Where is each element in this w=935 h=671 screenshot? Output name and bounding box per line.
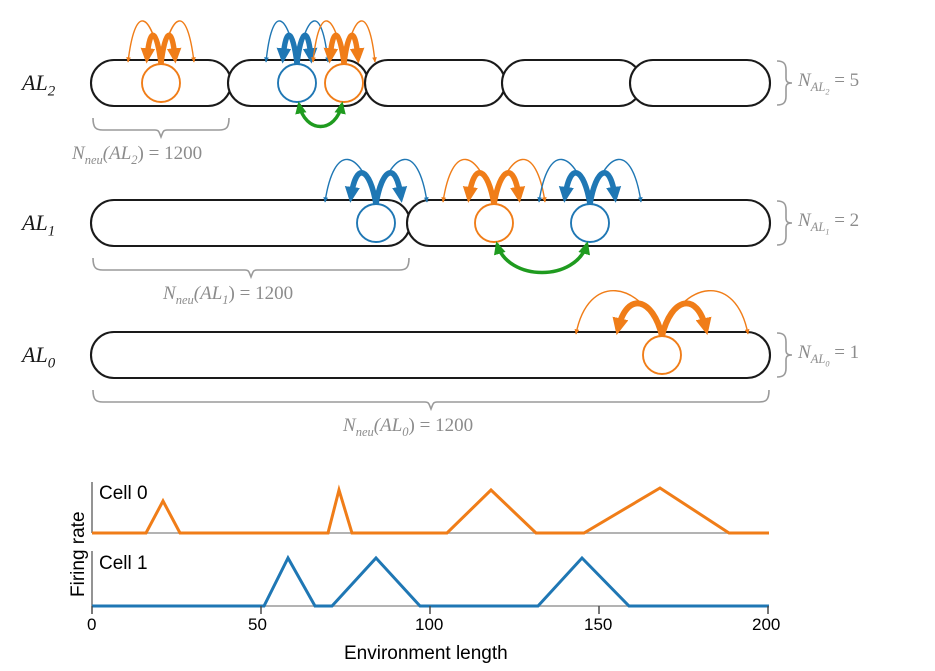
cell0-series-label: Cell 0	[99, 483, 148, 505]
al0-segment-count-label: NAL0 = 1	[798, 342, 859, 368]
al0-neu-count-label: Nneu(AL0) = 1200	[343, 415, 473, 440]
cell1-firing-rate-trace	[92, 558, 769, 606]
x-tick-label-50: 50	[248, 615, 267, 635]
al2-green-recurrent-link	[299, 104, 342, 127]
cell0-axes	[92, 482, 769, 533]
al1-count-brace	[777, 201, 792, 245]
al0-neu-brace	[93, 390, 769, 409]
al1-segments	[91, 200, 770, 246]
cell1-axes	[92, 551, 769, 606]
cell0-firing-rate-trace	[92, 488, 769, 533]
chart-y-axis-label: Firing rate	[68, 511, 90, 597]
al1-neu-count-label: Nneu(AL1) = 1200	[163, 283, 293, 308]
al0-count-brace	[777, 333, 792, 377]
x-tick-label-200: 200	[752, 615, 780, 635]
cell1-series-label: Cell 1	[99, 553, 148, 575]
row-label-al0: AL0	[22, 342, 55, 372]
x-tick-label-150: 150	[584, 615, 612, 635]
x-tick-label-100: 100	[415, 615, 443, 635]
al2-segments	[91, 60, 770, 106]
figure-canvas: AL2 AL1 AL0 Nneu(AL2) = 1200 Nneu(AL1) =…	[0, 0, 935, 671]
x-tick-label-0: 0	[87, 615, 96, 635]
row-label-al2: AL2	[22, 70, 55, 100]
al1-segment-count-label: NAL1 = 2	[798, 210, 859, 236]
row-label-al1: AL1	[22, 210, 55, 240]
al2-neu-brace	[93, 118, 229, 137]
al1-neu-brace	[93, 258, 409, 277]
al2-count-brace	[777, 61, 792, 105]
al2-neu-count-label: Nneu(AL2) = 1200	[72, 143, 202, 168]
al2-segment-count-label: NAL2 = 5	[798, 70, 859, 96]
al0-segments	[91, 332, 770, 378]
al1-green-recurrent-link	[497, 244, 587, 273]
chart-x-axis-label: Environment length	[344, 643, 508, 665]
